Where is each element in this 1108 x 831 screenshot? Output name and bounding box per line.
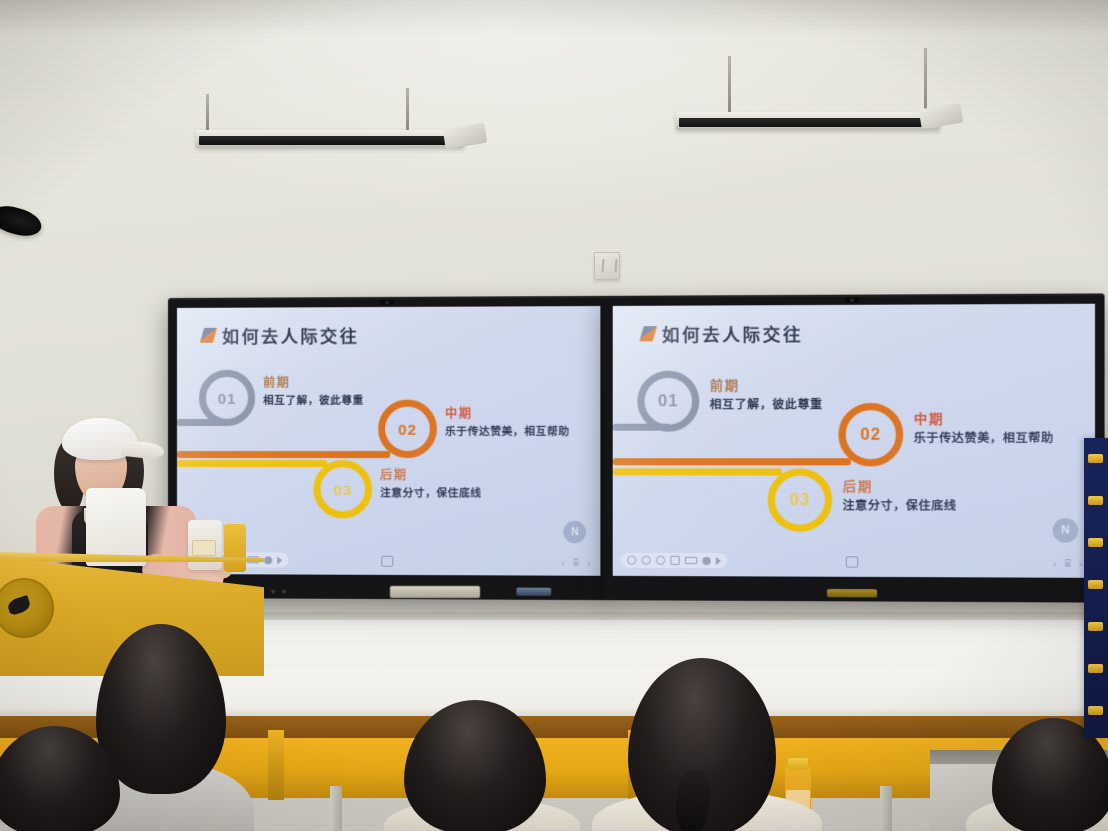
redo-icon[interactable] xyxy=(642,556,651,565)
pendant-light-right xyxy=(676,112,940,136)
step-subtitle-2: 乐于传达赞美，相互帮助 xyxy=(914,429,1054,445)
wall-light-sheen xyxy=(0,0,1108,300)
page-indicator-icon[interactable] xyxy=(381,556,393,567)
ir-receiver-icon xyxy=(517,588,552,596)
step-heading-2: 中期 xyxy=(914,408,1054,428)
step-heading-3: 后期 xyxy=(843,476,957,496)
banner-ornament xyxy=(1088,454,1103,463)
nav-page-icon: ⌸ xyxy=(1065,558,1071,569)
slide-title-row: 如何去人际交往 xyxy=(641,320,803,346)
ribbon-step-1: 01 xyxy=(177,369,600,370)
desk-leg xyxy=(880,786,892,831)
keyboard-icon[interactable] xyxy=(685,557,697,564)
page-title: 如何去人际交往 xyxy=(662,320,803,346)
banner-ornament xyxy=(1088,664,1103,673)
step-text-1: 前期 相互了解，彼此尊重 xyxy=(710,374,823,412)
title-mark-icon xyxy=(200,327,217,342)
bezel-button[interactable] xyxy=(282,590,286,594)
wall-banner xyxy=(1084,438,1108,738)
nav-prev-button[interactable]: ‹ xyxy=(1053,559,1056,569)
desk-leg xyxy=(330,786,342,831)
page-title: 如何去人际交往 xyxy=(222,322,359,348)
collapse-icon[interactable] xyxy=(716,556,721,564)
dual-display-unit: 如何去人际交往 01 前期 相互了解，彼此尊重 xyxy=(168,293,1105,602)
step-subtitle-1: 相互了解，彼此尊重 xyxy=(263,393,364,408)
step-ring-02: 02 xyxy=(838,403,903,466)
step-text-2: 中期 乐于传达赞美，相互帮助 xyxy=(445,404,570,438)
light-rod xyxy=(206,94,209,130)
step-text-2: 中期 乐于传达赞美，相互帮助 xyxy=(914,408,1054,446)
slide-right: 如何去人际交往 01 前期 相互了解，彼此尊重 02 xyxy=(613,304,1095,578)
slide-nav-left[interactable]: ‹ ⌸ › xyxy=(562,557,590,568)
slide-title-row: 如何去人际交往 xyxy=(202,322,359,348)
banner-ornament xyxy=(1088,622,1103,631)
nav-next-button[interactable]: › xyxy=(587,558,590,568)
ribbon-bar-3 xyxy=(613,468,782,475)
pen-icon[interactable] xyxy=(656,556,665,565)
light-rod xyxy=(406,88,409,130)
pendant-light-left xyxy=(196,130,464,154)
camera-icon xyxy=(380,300,394,305)
wall-socket-icon xyxy=(594,252,620,280)
brand-logo xyxy=(827,589,877,597)
title-mark-icon xyxy=(639,326,657,341)
banner-ornament xyxy=(1088,496,1103,505)
light-rod xyxy=(924,48,927,112)
menu-icon[interactable] xyxy=(264,556,272,564)
slide-nav-right[interactable]: ‹ ⌸ › xyxy=(1053,558,1082,569)
wall-mount-bracket xyxy=(390,586,480,598)
light-led-strip xyxy=(679,118,929,127)
ribbon-bar-1 xyxy=(613,424,671,431)
desk-divider xyxy=(268,730,284,800)
step-heading-3: 后期 xyxy=(380,466,481,483)
slide-watermark-icon: N xyxy=(1053,518,1078,543)
step-ring-03: 03 xyxy=(768,468,833,531)
light-led-strip xyxy=(199,136,453,145)
step-heading-2: 中期 xyxy=(445,404,570,421)
step-heading-1: 前期 xyxy=(710,374,823,394)
screen-right[interactable]: 如何去人际交往 01 前期 相互了解，彼此尊重 02 xyxy=(613,304,1095,578)
bottle-cap xyxy=(788,758,808,770)
banner-ornament xyxy=(1088,580,1103,589)
select-icon[interactable] xyxy=(670,556,679,565)
light-rod xyxy=(728,56,731,112)
step-text-3: 后期 注意分寸，保住底线 xyxy=(843,476,957,514)
banner-ornament xyxy=(1088,538,1103,547)
nav-page-icon: ⌸ xyxy=(573,557,579,568)
interactive-display-right[interactable]: 如何去人际交往 01 前期 相互了解，彼此尊重 02 xyxy=(603,293,1104,602)
banner-ornament xyxy=(1088,706,1103,715)
menu-icon[interactable] xyxy=(702,556,710,564)
step-ring-02: 02 xyxy=(378,400,437,459)
step-ring-03: 03 xyxy=(313,460,372,518)
podium-cup xyxy=(224,524,246,572)
nav-next-button[interactable]: › xyxy=(1079,559,1082,569)
page-indicator-icon[interactable] xyxy=(846,556,859,567)
classroom-scene: 如何去人际交往 01 前期 相互了解，彼此尊重 xyxy=(0,0,1108,831)
nav-prev-button[interactable]: ‹ xyxy=(562,558,565,568)
camera-icon xyxy=(845,298,860,303)
step-subtitle-3: 注意分寸，保住底线 xyxy=(843,497,957,514)
step-subtitle-1: 相互了解，彼此尊重 xyxy=(710,396,823,412)
bezel-button[interactable] xyxy=(271,589,275,593)
step-ring-01: 01 xyxy=(637,371,699,432)
ribbon-step-1: 01 xyxy=(613,370,1095,371)
step-text-1: 前期 相互了解，彼此尊重 xyxy=(263,374,364,408)
step-subtitle-2: 乐于传达赞美，相互帮助 xyxy=(445,424,570,439)
step-heading-1: 前期 xyxy=(263,374,364,391)
slide-toolbar-right[interactable] xyxy=(621,553,727,569)
step-subtitle-3: 注意分寸，保住底线 xyxy=(380,485,481,500)
slide-watermark-icon: N xyxy=(563,521,586,543)
ribbon-bar-2 xyxy=(613,458,851,465)
podium-item-label xyxy=(192,540,216,556)
collapse-icon[interactable] xyxy=(277,556,282,564)
step-text-3: 后期 注意分寸，保住底线 xyxy=(380,466,481,500)
undo-icon[interactable] xyxy=(627,556,636,565)
